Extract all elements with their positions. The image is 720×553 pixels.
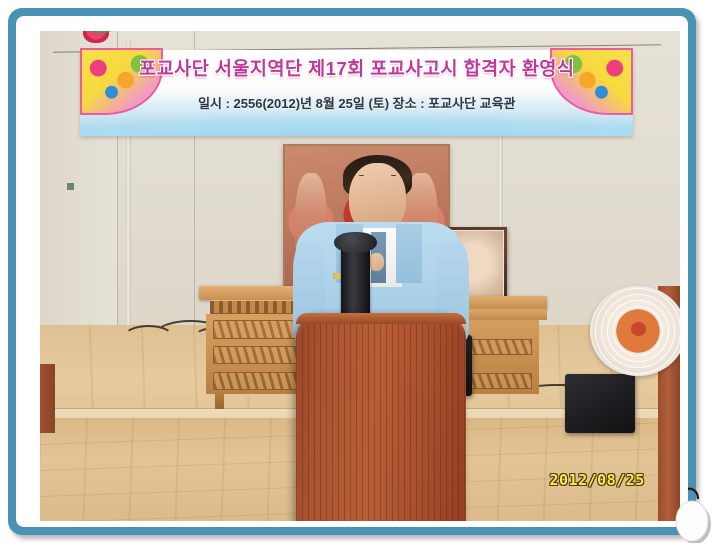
person-eye bbox=[391, 175, 396, 177]
podium-top-edge bbox=[296, 313, 466, 324]
camera-timestamp: 2012/08/25 bbox=[550, 471, 645, 489]
microphone-head bbox=[334, 232, 378, 254]
person-hand bbox=[369, 253, 384, 271]
room-trim-left bbox=[40, 364, 55, 433]
electric-fan bbox=[590, 286, 680, 394]
photograph: 포교사단 서울지역단 제17회 포교사고시 합격자 환영식 일시 : 2556(… bbox=[40, 31, 680, 521]
banner-subtitle: 일시 : 2556(2012)년 8월 25일 (토) 장소 : 포교사단 교육… bbox=[80, 93, 633, 112]
podium bbox=[296, 313, 466, 521]
person-lapel bbox=[396, 224, 423, 283]
mouse-pointer-icon bbox=[668, 487, 714, 543]
person-eye bbox=[359, 175, 364, 177]
altar-leg bbox=[215, 391, 224, 408]
event-banner: 포교사단 서울지역단 제17회 포교사고시 합격자 환영식 일시 : 2556(… bbox=[53, 46, 661, 139]
fan-cage bbox=[590, 286, 680, 377]
fan-hub bbox=[631, 322, 646, 336]
wall-socket-icon bbox=[67, 183, 74, 190]
banner-title: 포교사단 서울지역단 제17회 포교사고시 합격자 환영식 bbox=[80, 55, 633, 81]
banner-sheet: 포교사단 서울지역단 제17회 포교사고시 합격자 환영식 일시 : 2556(… bbox=[80, 50, 633, 136]
photo-frame-border: 포교사단 서울지역단 제17회 포교사고시 합격자 환영식 일시 : 2556(… bbox=[8, 8, 696, 535]
photo-mat: 포교사단 서울지역단 제17회 포교사고시 합격자 환영식 일시 : 2556(… bbox=[16, 16, 688, 527]
